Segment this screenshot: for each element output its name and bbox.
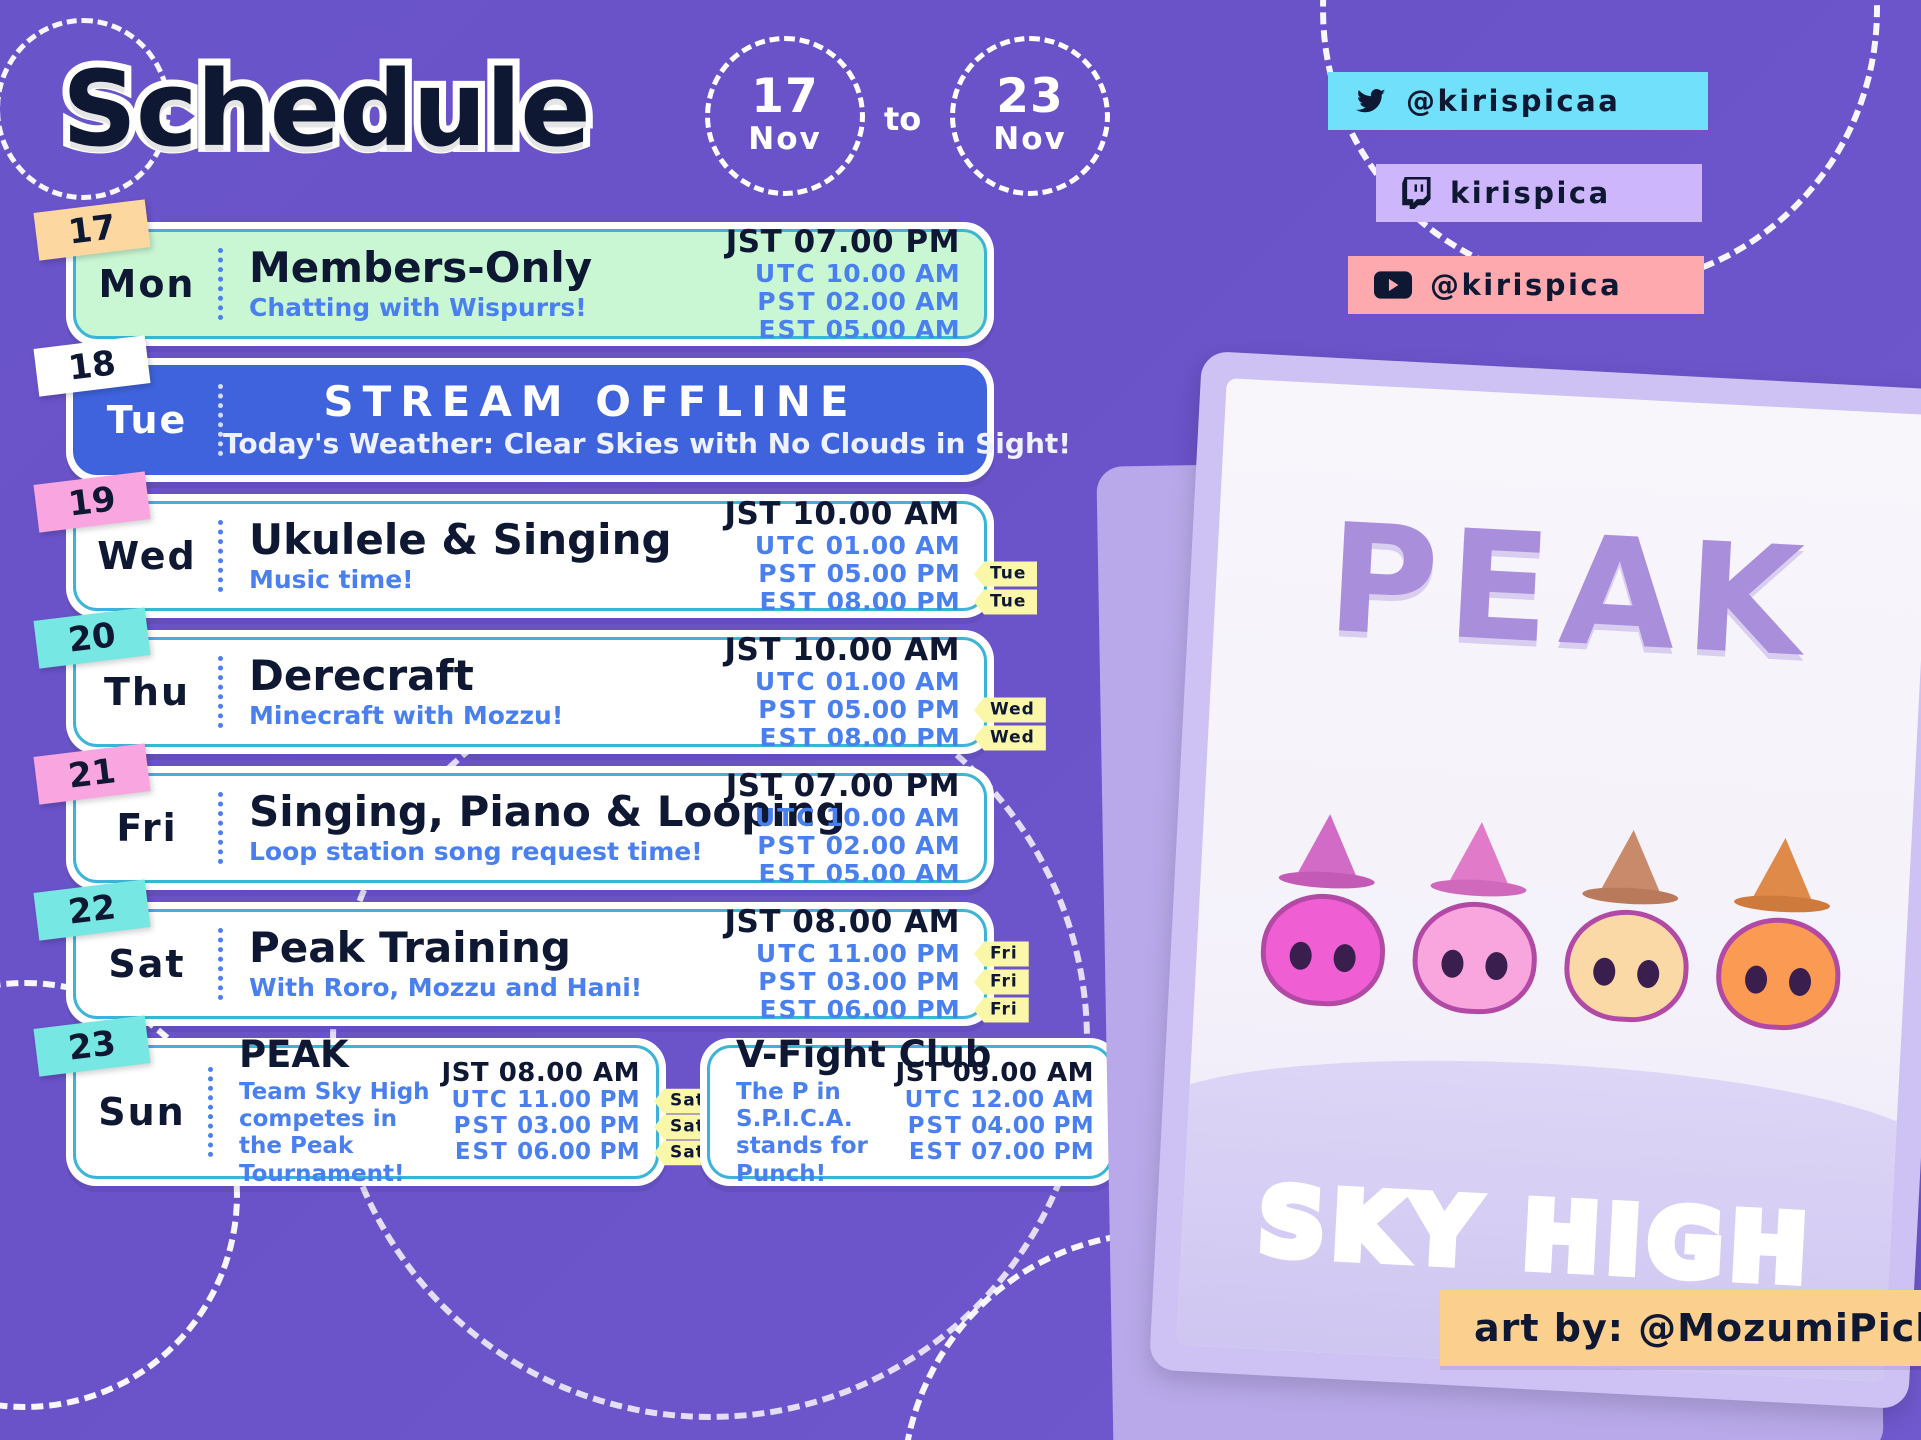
day-shift-tag: Fri: [974, 941, 1029, 966]
schedule-card[interactable]: MonMembers-OnlyChatting with Wispurrs!JS…: [66, 222, 994, 346]
timezone-label: UTC: [905, 1087, 962, 1113]
eye-left: [1744, 965, 1767, 994]
character-kiri: [1712, 835, 1850, 1033]
time-value: 05.00 AM: [817, 315, 960, 344]
time-list: JST 07.00 PMUTC 10.00 AMPST 02.00 AMEST …: [726, 224, 984, 344]
time-value: 01.00 AM: [817, 531, 960, 560]
social-handle-twitch: kirispica: [1450, 176, 1611, 210]
witch-hat-brim: [1582, 885, 1679, 906]
event-info: Members-OnlyChatting with Wispurrs!: [223, 246, 726, 323]
time-row-utc: UTC 10.00 AM: [726, 260, 960, 288]
day-label: Thu: [76, 670, 218, 714]
character-head: [1410, 899, 1540, 1017]
art-credit: art by: @MozumiPichi: [1440, 1290, 1921, 1366]
time-row-est: EST 07.00 PMSat: [896, 1140, 1094, 1166]
witch-hat-brim: [1734, 893, 1831, 914]
time-row-jst: JST 08.00 AM: [442, 1058, 640, 1088]
timezone-label: JST: [725, 632, 782, 668]
timezone-label: UTC: [755, 259, 817, 288]
day-shift-tag: Wed: [974, 697, 1046, 722]
time-list: JST 10.00 AMUTC 01.00 AMPST 05.00 PMTueE…: [725, 496, 985, 616]
artwork-canvas: PEAK: [1176, 378, 1921, 1382]
eye-left: [1441, 949, 1464, 978]
event-info: STREAM OFFLINEToday's Weather: Clear Ski…: [223, 380, 984, 460]
schedule-card[interactable]: TueSTREAM OFFLINEToday's Weather: Clear …: [66, 358, 994, 482]
witch-hat-icon: [1752, 836, 1815, 901]
date-end-day: 23: [996, 73, 1063, 120]
event-subtitle: Loop station song request time!: [249, 838, 726, 867]
timezone-label: JST: [442, 1058, 490, 1088]
schedule-card-inner: ThuDerecraftMinecraft with Mozzu!JST 10.…: [73, 637, 987, 747]
timezone-label: PST: [758, 695, 817, 724]
time-list: JST 08.00 AMUTC 11.00 PMSatPST 03.00 PMS…: [442, 1058, 656, 1165]
social-handle-twitter: @kirispicaa: [1406, 84, 1620, 118]
time-row-pst: PST 05.00 PMTue: [725, 560, 961, 588]
time-value: 12.00 AM: [962, 1087, 1094, 1113]
day-shift-tag: Tue: [974, 561, 1037, 586]
eye-left: [1289, 941, 1312, 970]
time-row-utc: UTC 11.00 PMSat: [442, 1088, 640, 1114]
event-info: Peak TrainingWith Roro, Mozzu and Hani!: [223, 926, 725, 1003]
timezone-label: EST: [758, 859, 816, 888]
schedule-row: 22SatPeak TrainingWith Roro, Mozzu and H…: [0, 902, 1100, 1026]
time-row-jst: JST 10.00 AM: [725, 632, 961, 668]
time-value: 11.00 PM: [818, 939, 960, 968]
time-value: 05.00 PM: [818, 695, 960, 724]
schedule-row: 21FriSinging, Piano & LoopingLoop statio…: [0, 766, 1100, 890]
event-title: STREAM OFFLINE: [223, 380, 958, 424]
timezone-label: UTC: [755, 667, 817, 696]
time-value: 04.00 PM: [963, 1113, 1094, 1139]
timezone-label: JST: [726, 768, 783, 804]
time-value: 03.00 PM: [509, 1113, 640, 1139]
event-title: Members-Only: [249, 246, 726, 290]
day-shift-tag: Tue: [974, 589, 1037, 614]
date-tag-number: 23: [66, 1023, 118, 1068]
date-end-month: Nov: [993, 120, 1066, 159]
timezone-label: UTC: [755, 803, 817, 832]
timezone-label: PST: [758, 559, 817, 588]
time-row-jst: JST 10.00 AM: [725, 496, 961, 532]
time-value: 03.00 PM: [818, 967, 960, 996]
time-row-pst: PST 03.00 PMFri: [725, 968, 961, 996]
date-range-end: 23 Nov: [950, 36, 1110, 196]
twitch-icon: [1402, 177, 1432, 209]
time-list: JST 10.00 AMUTC 01.00 AMPST 05.00 PMWedE…: [725, 632, 985, 752]
timezone-label: UTC: [755, 531, 817, 560]
schedule-card-inner: TueSTREAM OFFLINEToday's Weather: Clear …: [73, 365, 987, 475]
timezone-label: JST: [726, 224, 783, 260]
timezone-label: EST: [909, 1139, 963, 1165]
day-label: Mon: [76, 262, 218, 306]
time-value: 08.00 PM: [818, 723, 960, 752]
schedule-poster: Schedule 17 Nov to 23 Nov @kirispicaa: [0, 0, 1921, 1440]
time-row-est: EST 05.00 AM: [726, 316, 960, 344]
time-row-pst: PST 02.00 AM: [726, 288, 960, 316]
schedule-card[interactable]: SunPEAKTeam Sky High competes in the Pea…: [66, 1038, 666, 1186]
time-row-jst: JST 08.00 AM: [725, 904, 961, 940]
schedule-row: 17MonMembers-OnlyChatting with Wispurrs!…: [0, 222, 1100, 346]
witch-hat-icon: [1449, 821, 1512, 886]
timezone-label: EST: [759, 723, 817, 752]
page-title: Schedule: [62, 48, 590, 170]
time-row-jst: JST 09.00 AM: [896, 1058, 1094, 1088]
time-value: 10.00 AM: [781, 632, 960, 668]
timezone-label: PST: [908, 1113, 963, 1139]
day-shift-tag: Wed: [974, 725, 1046, 750]
social-link-twitter[interactable]: @kirispicaa: [1328, 72, 1708, 130]
eye-right: [1485, 951, 1508, 980]
time-row-est: EST 08.00 PMTue: [725, 588, 961, 616]
witch-hat-brim: [1430, 878, 1527, 899]
event-info: Singing, Piano & LoopingLoop station son…: [223, 790, 726, 867]
character-head: [1562, 907, 1692, 1025]
schedule-card[interactable]: FriSinging, Piano & LoopingLoop station …: [66, 766, 994, 890]
time-row-jst: JST 07.00 PM: [726, 768, 960, 804]
event-title: Peak Training: [249, 926, 725, 970]
event-subtitle: Music time!: [249, 566, 725, 595]
schedule-row-sunday: 23SunPEAKTeam Sky High competes in the P…: [0, 1038, 1100, 1186]
time-value: 08.00 AM: [489, 1058, 640, 1088]
time-row-est: EST 06.00 PMFri: [725, 996, 961, 1024]
event-subtitle: Minecraft with Mozzu!: [249, 702, 725, 731]
eye-right: [1788, 967, 1811, 996]
schedule-row: 20ThuDerecraftMinecraft with Mozzu!JST 1…: [0, 630, 1100, 754]
time-list: JST 09.00 AMUTC 12.00 AMPST 04.00 PMSatE…: [896, 1058, 1110, 1165]
time-value: 07.00 PM: [963, 1139, 1094, 1165]
event-subtitle: Chatting with Wispurrs!: [249, 294, 726, 323]
time-row-pst: PST 05.00 PMWed: [725, 696, 961, 724]
event-info: V-Fight ClubThe P in S.P.I.C.A. stands f…: [710, 1036, 896, 1187]
timezone-label: EST: [759, 995, 817, 1024]
time-value: 11.00 PM: [509, 1087, 640, 1113]
time-value: 10.00 AM: [781, 496, 960, 532]
time-value: 07.00 PM: [782, 768, 960, 804]
character-hani: [1408, 819, 1546, 1017]
artwork-characters: [1194, 808, 1911, 1037]
time-row-pst: PST 02.00 AM: [726, 832, 960, 860]
time-row-pst: PST 03.00 PMSat: [442, 1114, 640, 1140]
timezone-label: EST: [758, 315, 816, 344]
time-row-jst: JST 07.00 PM: [726, 224, 960, 260]
timezone-label: EST: [455, 1139, 509, 1165]
character-head: [1714, 915, 1844, 1033]
youtube-icon: [1374, 271, 1412, 299]
time-list: JST 07.00 PMUTC 10.00 AMPST 02.00 AMEST …: [726, 768, 984, 888]
eye-right: [1636, 959, 1659, 988]
day-shift-tag: Fri: [974, 969, 1029, 994]
timezone-label: JST: [725, 496, 782, 532]
character-head: [1258, 891, 1388, 1009]
witch-hat-icon: [1297, 813, 1360, 878]
timezone-label: PST: [757, 287, 816, 316]
timezone-label: JST: [725, 904, 782, 940]
day-label: Sun: [76, 1090, 208, 1134]
time-list: JST 08.00 AMUTC 11.00 PMFriPST 03.00 PMF…: [725, 904, 985, 1024]
social-link-twitch[interactable]: kirispica: [1376, 164, 1702, 222]
time-value: 07.00 PM: [782, 224, 960, 260]
time-value: 09.00 AM: [943, 1058, 1094, 1088]
date-start-month: Nov: [748, 120, 821, 159]
timezone-label: JST: [896, 1058, 944, 1088]
event-info: PEAKTeam Sky High competes in the Peak T…: [213, 1036, 442, 1187]
schedule-card[interactable]: SatPeak TrainingWith Roro, Mozzu and Han…: [66, 902, 994, 1026]
time-row-est: EST 05.00 AM: [726, 860, 960, 888]
day-label: Sat: [76, 942, 218, 986]
schedule-card-inner: MonMembers-OnlyChatting with Wispurrs!JS…: [73, 229, 987, 339]
time-row-est: EST 08.00 PMWed: [725, 724, 961, 752]
schedule-card-inner: SatPeak TrainingWith Roro, Mozzu and Han…: [73, 909, 987, 1019]
time-value: 10.00 AM: [817, 259, 960, 288]
event-subtitle: Today's Weather: Clear Skies with No Clo…: [223, 428, 958, 460]
day-label: Wed: [76, 534, 218, 578]
time-row-pst: PST 04.00 PMSat: [896, 1114, 1094, 1140]
day-label: Fri: [76, 806, 218, 850]
event-title: Ukulele & Singing: [249, 518, 725, 562]
time-value: 06.00 PM: [509, 1139, 640, 1165]
timezone-label: UTC: [452, 1087, 509, 1113]
witch-hat-brim: [1278, 870, 1375, 891]
event-title: PEAK: [239, 1036, 442, 1075]
schedule-card[interactable]: ThuDerecraftMinecraft with Mozzu!JST 10.…: [66, 630, 994, 754]
character-mozzu: [1560, 827, 1698, 1025]
date-tag-number: 19: [66, 479, 118, 524]
time-row-utc: UTC 01.00 AM: [725, 532, 961, 560]
event-subtitle: Team Sky High competes in the Peak Tourn…: [239, 1079, 442, 1188]
event-title: Singing, Piano & Looping: [249, 790, 726, 834]
date-tag-number: 21: [66, 751, 118, 796]
event-subtitle: With Roro, Mozzu and Hani!: [249, 974, 725, 1003]
time-value: 05.00 PM: [818, 559, 960, 588]
social-link-youtube[interactable]: @kirispica: [1348, 256, 1704, 314]
date-range-separator: to: [884, 100, 921, 138]
timezone-label: PST: [454, 1113, 509, 1139]
date-tag-number: 18: [66, 343, 118, 388]
event-title: V-Fight Club: [736, 1036, 896, 1075]
event-title: Derecraft: [249, 654, 725, 698]
social-handle-youtube: @kirispica: [1430, 268, 1622, 302]
schedule-row: 19WedUkulele & SingingMusic time!JST 10.…: [0, 494, 1100, 618]
day-shift-tag: Fri: [974, 997, 1029, 1022]
schedule-card[interactable]: V-Fight ClubThe P in S.P.I.C.A. stands f…: [700, 1038, 1120, 1186]
time-row-utc: UTC 11.00 PMFri: [725, 940, 961, 968]
event-info: Ukulele & SingingMusic time!: [223, 518, 725, 595]
schedule-card[interactable]: WedUkulele & SingingMusic time!JST 10.00…: [66, 494, 994, 618]
time-value: 08.00 PM: [818, 587, 960, 616]
artwork-front-card: PEAK: [1149, 351, 1921, 1409]
time-row-utc: UTC 10.00 AM: [726, 804, 960, 832]
character-roro: [1256, 811, 1394, 1009]
time-value: 10.00 AM: [817, 803, 960, 832]
timezone-label: PST: [757, 831, 816, 860]
schedule-card-inner: V-Fight ClubThe P in S.P.I.C.A. stands f…: [707, 1045, 1113, 1179]
artwork-title-top: PEAK: [1212, 486, 1921, 697]
eye-right: [1333, 944, 1356, 973]
time-value: 02.00 AM: [817, 287, 960, 316]
twitter-icon: [1354, 86, 1388, 116]
time-value: 08.00 AM: [781, 904, 960, 940]
timezone-label: EST: [759, 587, 817, 616]
time-value: 01.00 AM: [817, 667, 960, 696]
time-row-est: EST 06.00 PMSat: [442, 1140, 640, 1166]
event-subtitle: The P in S.P.I.C.A. stands for Punch!: [736, 1079, 896, 1188]
day-label: Tue: [76, 398, 218, 442]
date-range-start: 17 Nov: [705, 36, 865, 196]
time-value: 02.00 AM: [817, 831, 960, 860]
schedule-list: 17MonMembers-OnlyChatting with Wispurrs!…: [0, 222, 1100, 1198]
time-row-utc: UTC 01.00 AM: [725, 668, 961, 696]
date-tag-number: 22: [66, 887, 118, 932]
timezone-label: UTC: [756, 939, 818, 968]
time-row-utc: UTC 12.00 AM: [896, 1088, 1094, 1114]
eye-left: [1593, 957, 1616, 986]
timezone-label: PST: [758, 967, 817, 996]
date-tag-number: 17: [66, 207, 118, 252]
date-start-day: 17: [751, 73, 818, 120]
witch-hat-icon: [1601, 828, 1664, 893]
date-tag-number: 20: [66, 615, 118, 660]
event-info: DerecraftMinecraft with Mozzu!: [223, 654, 725, 731]
schedule-card-inner: FriSinging, Piano & LoopingLoop station …: [73, 773, 987, 883]
schedule-row: 18TueSTREAM OFFLINEToday's Weather: Clea…: [0, 358, 1100, 482]
time-value: 06.00 PM: [818, 995, 960, 1024]
schedule-card-inner: SunPEAKTeam Sky High competes in the Pea…: [73, 1045, 659, 1179]
schedule-card-inner: WedUkulele & SingingMusic time!JST 10.00…: [73, 501, 987, 611]
time-value: 05.00 AM: [817, 859, 960, 888]
